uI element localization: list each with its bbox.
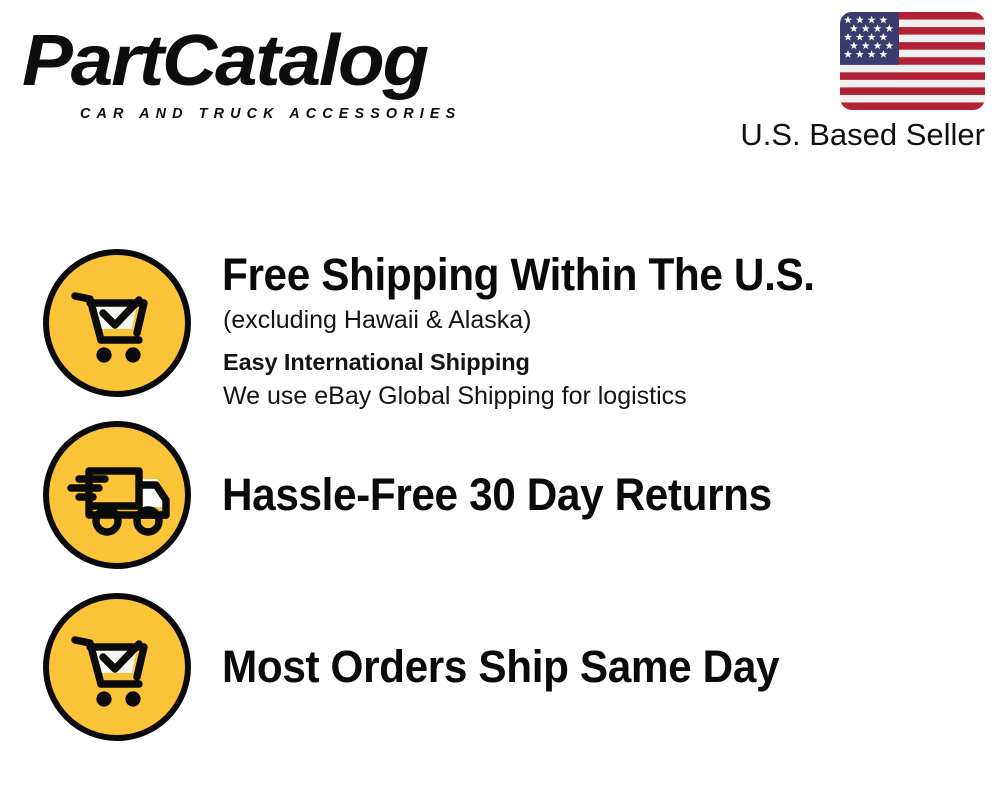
partcatalog-logo: PartCatalog CAR AND TRUCK ACCESSORIES <box>22 22 492 117</box>
feature-row-returns: Hassle-Free 30 Day Returns <box>0 421 1000 593</box>
feature-subtext-international-heading: Easy International Shipping <box>223 346 530 379</box>
shopping-cart-check-icon <box>49 599 185 735</box>
shopping-cart-check-icon <box>49 255 185 391</box>
us-based-seller-label: U.S. Based Seller <box>640 116 985 154</box>
logo-tagline: CAR AND TRUCK ACCESSORIES <box>80 106 461 122</box>
promo-banner: PartCatalog CAR AND TRUCK ACCESSORIES <box>0 0 1000 800</box>
banner-header: PartCatalog CAR AND TRUCK ACCESSORIES <box>0 0 1000 175</box>
feature-heading: Hassle-Free 30 Day Returns <box>222 469 772 521</box>
feature-badge <box>43 249 191 397</box>
feature-subtext-exclusions: (excluding Hawaii & Alaska) <box>223 304 531 337</box>
feature-row-free-shipping: Free Shipping Within The U.S. (excluding… <box>0 249 1000 421</box>
delivery-truck-icon <box>49 427 185 563</box>
feature-heading: Most Orders Ship Same Day <box>222 641 779 693</box>
feature-row-same-day-shipping: Most Orders Ship Same Day <box>0 593 1000 765</box>
us-flag-icon <box>840 12 985 110</box>
logo-wordmark: PartCatalog <box>22 22 427 100</box>
feature-list: Free Shipping Within The U.S. (excluding… <box>0 175 1000 800</box>
feature-heading: Free Shipping Within The U.S. <box>222 249 815 301</box>
feature-subtext-logistics: We use eBay Global Shipping for logistic… <box>223 380 687 413</box>
feature-badge <box>43 593 191 741</box>
us-flag-svg <box>840 12 985 110</box>
feature-badge <box>43 421 191 569</box>
